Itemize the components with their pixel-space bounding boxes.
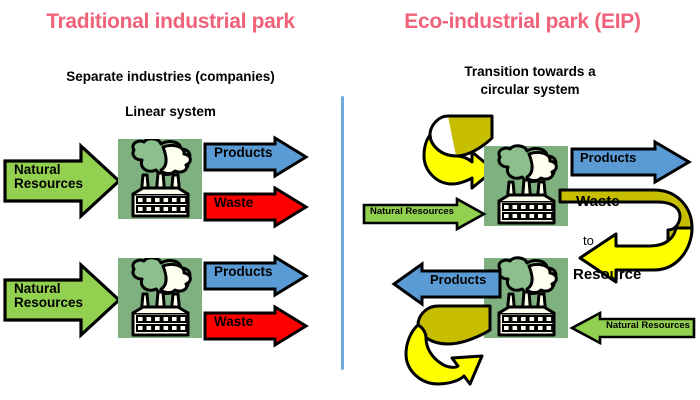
left-panel-subtitle: Separate industries (companies) <box>0 68 341 85</box>
right-bottom-curved-arrow <box>398 300 502 396</box>
left-row1-natural-resources-arrow: Natural Resources <box>3 143 121 219</box>
left-row1-products-arrow: Products <box>203 136 308 178</box>
right-panel-title: Eco-industrial park (EIP) <box>345 10 700 34</box>
left-row1-factory-icon <box>115 139 205 223</box>
left-row2-products-arrow: Products <box>203 255 308 297</box>
right-resource-label: Resource <box>573 266 641 283</box>
left-panel-title: Traditional industrial park <box>0 10 341 34</box>
right-panel-subtitle-line2: circular system <box>380 81 680 98</box>
left-row2-natural-resources-arrow: Natural Resources <box>3 262 121 338</box>
right-panel-subtitle-line1: Transition towards a <box>380 63 680 80</box>
left-system-label: Linear system <box>0 103 341 120</box>
right-waste-label: Waste <box>576 193 620 210</box>
right-top-products-arrow: Products <box>570 140 692 184</box>
diagram-canvas: Traditional industrial park Eco-industri… <box>0 0 700 400</box>
right-top-natural-resources-arrow: Natural Resources <box>362 196 487 232</box>
right-bottom-natural-resources-arrow: Natural Resources <box>568 310 696 346</box>
panel-divider <box>341 96 344 370</box>
waste-to-resource-connector-label: to <box>583 233 594 248</box>
left-row1-waste-arrow: Waste <box>203 186 308 228</box>
left-row2-waste-arrow: Waste <box>203 305 308 347</box>
left-row2-factory-icon <box>115 258 205 342</box>
